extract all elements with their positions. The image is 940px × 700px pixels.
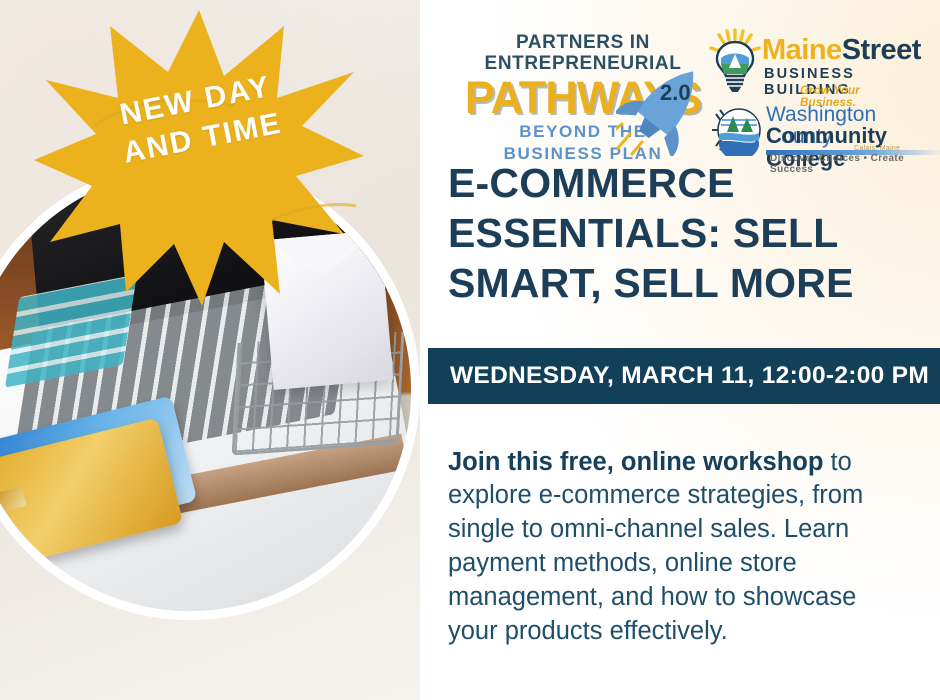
date-banner: WEDNESDAY, MARCH 11, 12:00-2:00 PM	[428, 348, 940, 404]
mainestreet-wordmark: MaineStreet	[762, 36, 921, 65]
content-panel: PARTNERS IN ENTREPRENEURIAL PATHWAYS BEY…	[420, 0, 940, 700]
mainestreet-logo: MaineStreet BUSINESS BUILDING Grow Your …	[708, 26, 916, 102]
mainestreet-word-street: Street	[842, 34, 921, 66]
page-title: E-COMMERCE ESSENTIALS: SELL SMART, SELL …	[448, 158, 868, 308]
description-paragraph: Join this free, online workshop to explo…	[448, 446, 898, 649]
mainestreet-word-maine: Maine	[762, 34, 842, 66]
college-logo: Washington County Community College Cala…	[708, 104, 916, 166]
new-day-starburst-badge: NEW DAY AND TIME	[34, 6, 364, 306]
photo-panel: NEW DAY AND TIME	[0, 0, 420, 700]
lightbulb-icon	[708, 28, 762, 92]
pathways-version-label: 2.0	[660, 80, 691, 105]
flyer-canvas: NEW DAY AND TIME PARTNERS IN ENTREPRENEU…	[0, 0, 940, 700]
logo-row: PARTNERS IN ENTREPRENEURIAL PATHWAYS BEY…	[420, 22, 940, 172]
description-rest: to explore e-commerce strategies, from s…	[448, 448, 863, 646]
date-banner-text: WEDNESDAY, MARCH 11, 12:00-2:00 PM	[428, 362, 929, 390]
description-lead: Join this free, online workshop	[448, 448, 823, 476]
compass-pines-icon	[708, 104, 766, 156]
rocket-icon: 2.0	[616, 56, 716, 156]
pathways-top-line-1: PARTNERS IN	[458, 32, 708, 53]
